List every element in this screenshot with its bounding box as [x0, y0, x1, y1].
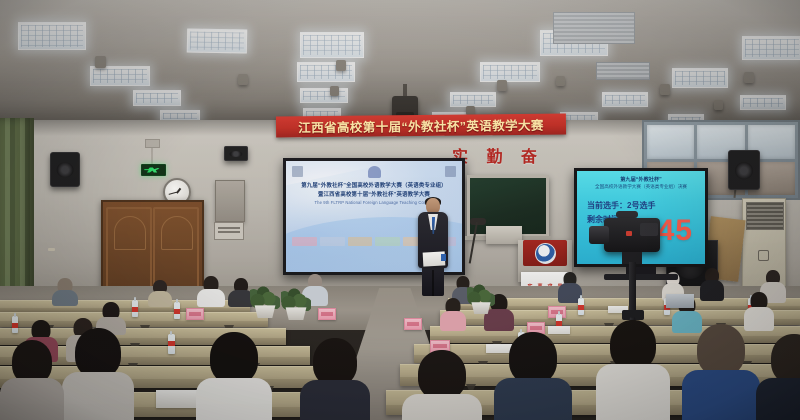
name-card: [318, 308, 336, 320]
presenter-badge: [441, 254, 446, 261]
exit-sign: [141, 164, 166, 176]
foreground-audience-member: [682, 324, 760, 420]
name-card: [404, 318, 422, 330]
potted-plant: [469, 286, 493, 314]
screen-title-line1: 第九届“外教社杯”全国高校外语教学大赛（英语类专业组）: [286, 181, 462, 189]
emblem-logo-icon: [292, 166, 303, 177]
person-head: [418, 350, 466, 400]
person-head: [771, 334, 800, 384]
person-torso: [682, 370, 760, 420]
water-bottle: [132, 300, 138, 317]
water-bottle: [168, 334, 175, 354]
wall-vent: [214, 222, 244, 240]
monitor-title-line2: 全国高校外语教学大赛（英语类专业组）决赛: [577, 184, 705, 190]
name-card: [186, 308, 204, 320]
camera-lens-icon: [589, 226, 609, 244]
wall-speaker-ceiling-left: [224, 146, 248, 161]
monitor-current-contestant: 当前选手：2号选手: [587, 200, 655, 211]
wall-motto: 实 勤 奋: [452, 143, 544, 167]
person-torso: [756, 378, 800, 420]
laptop: [666, 294, 694, 308]
window-pane: [647, 125, 694, 159]
foreground-audience-member: [0, 340, 64, 420]
person-head: [509, 332, 557, 384]
sponsor-logo: [348, 237, 373, 246]
event-banner: 江西省高校第十届“外教社杯”英语教学大赛: [276, 113, 566, 137]
presenter: [417, 198, 449, 296]
foreground-audience-member: [756, 334, 800, 420]
university-crest-icon: [535, 243, 556, 264]
person-torso: [148, 291, 172, 307]
exit-sign-housing: [145, 139, 160, 148]
monitor-title-line1: 第九届“外教社杯”: [577, 176, 705, 183]
camera-viewfinder: [640, 223, 658, 236]
wall-speaker-right: [728, 150, 760, 190]
water-bottle: [174, 302, 180, 319]
person-head: [75, 328, 121, 378]
audience-member: [700, 268, 724, 300]
sponsor-logo: [292, 237, 317, 246]
cup-trophy-logo-icon: [368, 166, 381, 178]
press-logo-icon: [445, 166, 456, 177]
audience-member: [52, 278, 78, 304]
person-torso: [62, 372, 134, 420]
person-head: [210, 332, 258, 384]
person-torso: [494, 378, 572, 420]
person-torso: [196, 378, 272, 420]
event-banner-text: 江西省高校第十届“外教社杯”英语教学大赛: [298, 115, 544, 137]
wall-speaker-left: [50, 152, 80, 187]
foreground-audience-member: [62, 328, 134, 420]
foreground-audience-member: [494, 332, 572, 420]
foreground-audience-member: [402, 350, 482, 420]
running-man-icon: [144, 167, 162, 173]
foreground-audience-member: [196, 332, 272, 420]
sponsor-logo: [320, 237, 345, 246]
person-torso: [197, 289, 225, 307]
lecture-hall-photo: 江西省高校第十届“外教社杯”英语教学大赛 实 勤 奋 第九届“外教社杯”全国高校…: [0, 0, 800, 420]
water-bottle: [578, 298, 584, 315]
potted-plant: [252, 288, 278, 318]
screen-logo-row: [292, 165, 456, 178]
potted-plant: [283, 290, 309, 320]
air-conditioner-badge: [758, 250, 769, 261]
podium-front-panel: [523, 240, 567, 266]
person-torso: [596, 364, 670, 420]
audience-member: [197, 276, 225, 304]
person-torso: [700, 280, 724, 301]
plant-pot: [252, 305, 278, 318]
audience-member: [148, 280, 172, 304]
audience-member: [440, 298, 466, 330]
person-head: [610, 320, 656, 370]
ceiling: [0, 0, 800, 132]
person-head: [697, 324, 745, 376]
electrical-panel: [215, 180, 245, 222]
equipment-stand: [486, 226, 522, 244]
door-handle[interactable]: [48, 248, 55, 251]
foreground-audience-member: [300, 338, 370, 420]
foreground-audience-member: [596, 320, 670, 420]
camera-microphone-icon: [616, 211, 638, 218]
person-torso: [300, 380, 370, 420]
camera-record-light-icon: [626, 231, 632, 236]
person-torso: [52, 290, 78, 306]
water-bottle: [12, 316, 18, 333]
presenter-trousers: [422, 266, 444, 296]
person-torso: [440, 311, 466, 331]
plant-pot: [283, 307, 309, 320]
person-torso: [0, 378, 64, 420]
person-torso: [402, 394, 482, 420]
sponsor-logo: [375, 237, 400, 246]
air-conditioner-grille: [746, 202, 784, 230]
tripod-column: [629, 262, 636, 314]
plant-pot: [469, 302, 493, 314]
person-head: [313, 338, 357, 386]
